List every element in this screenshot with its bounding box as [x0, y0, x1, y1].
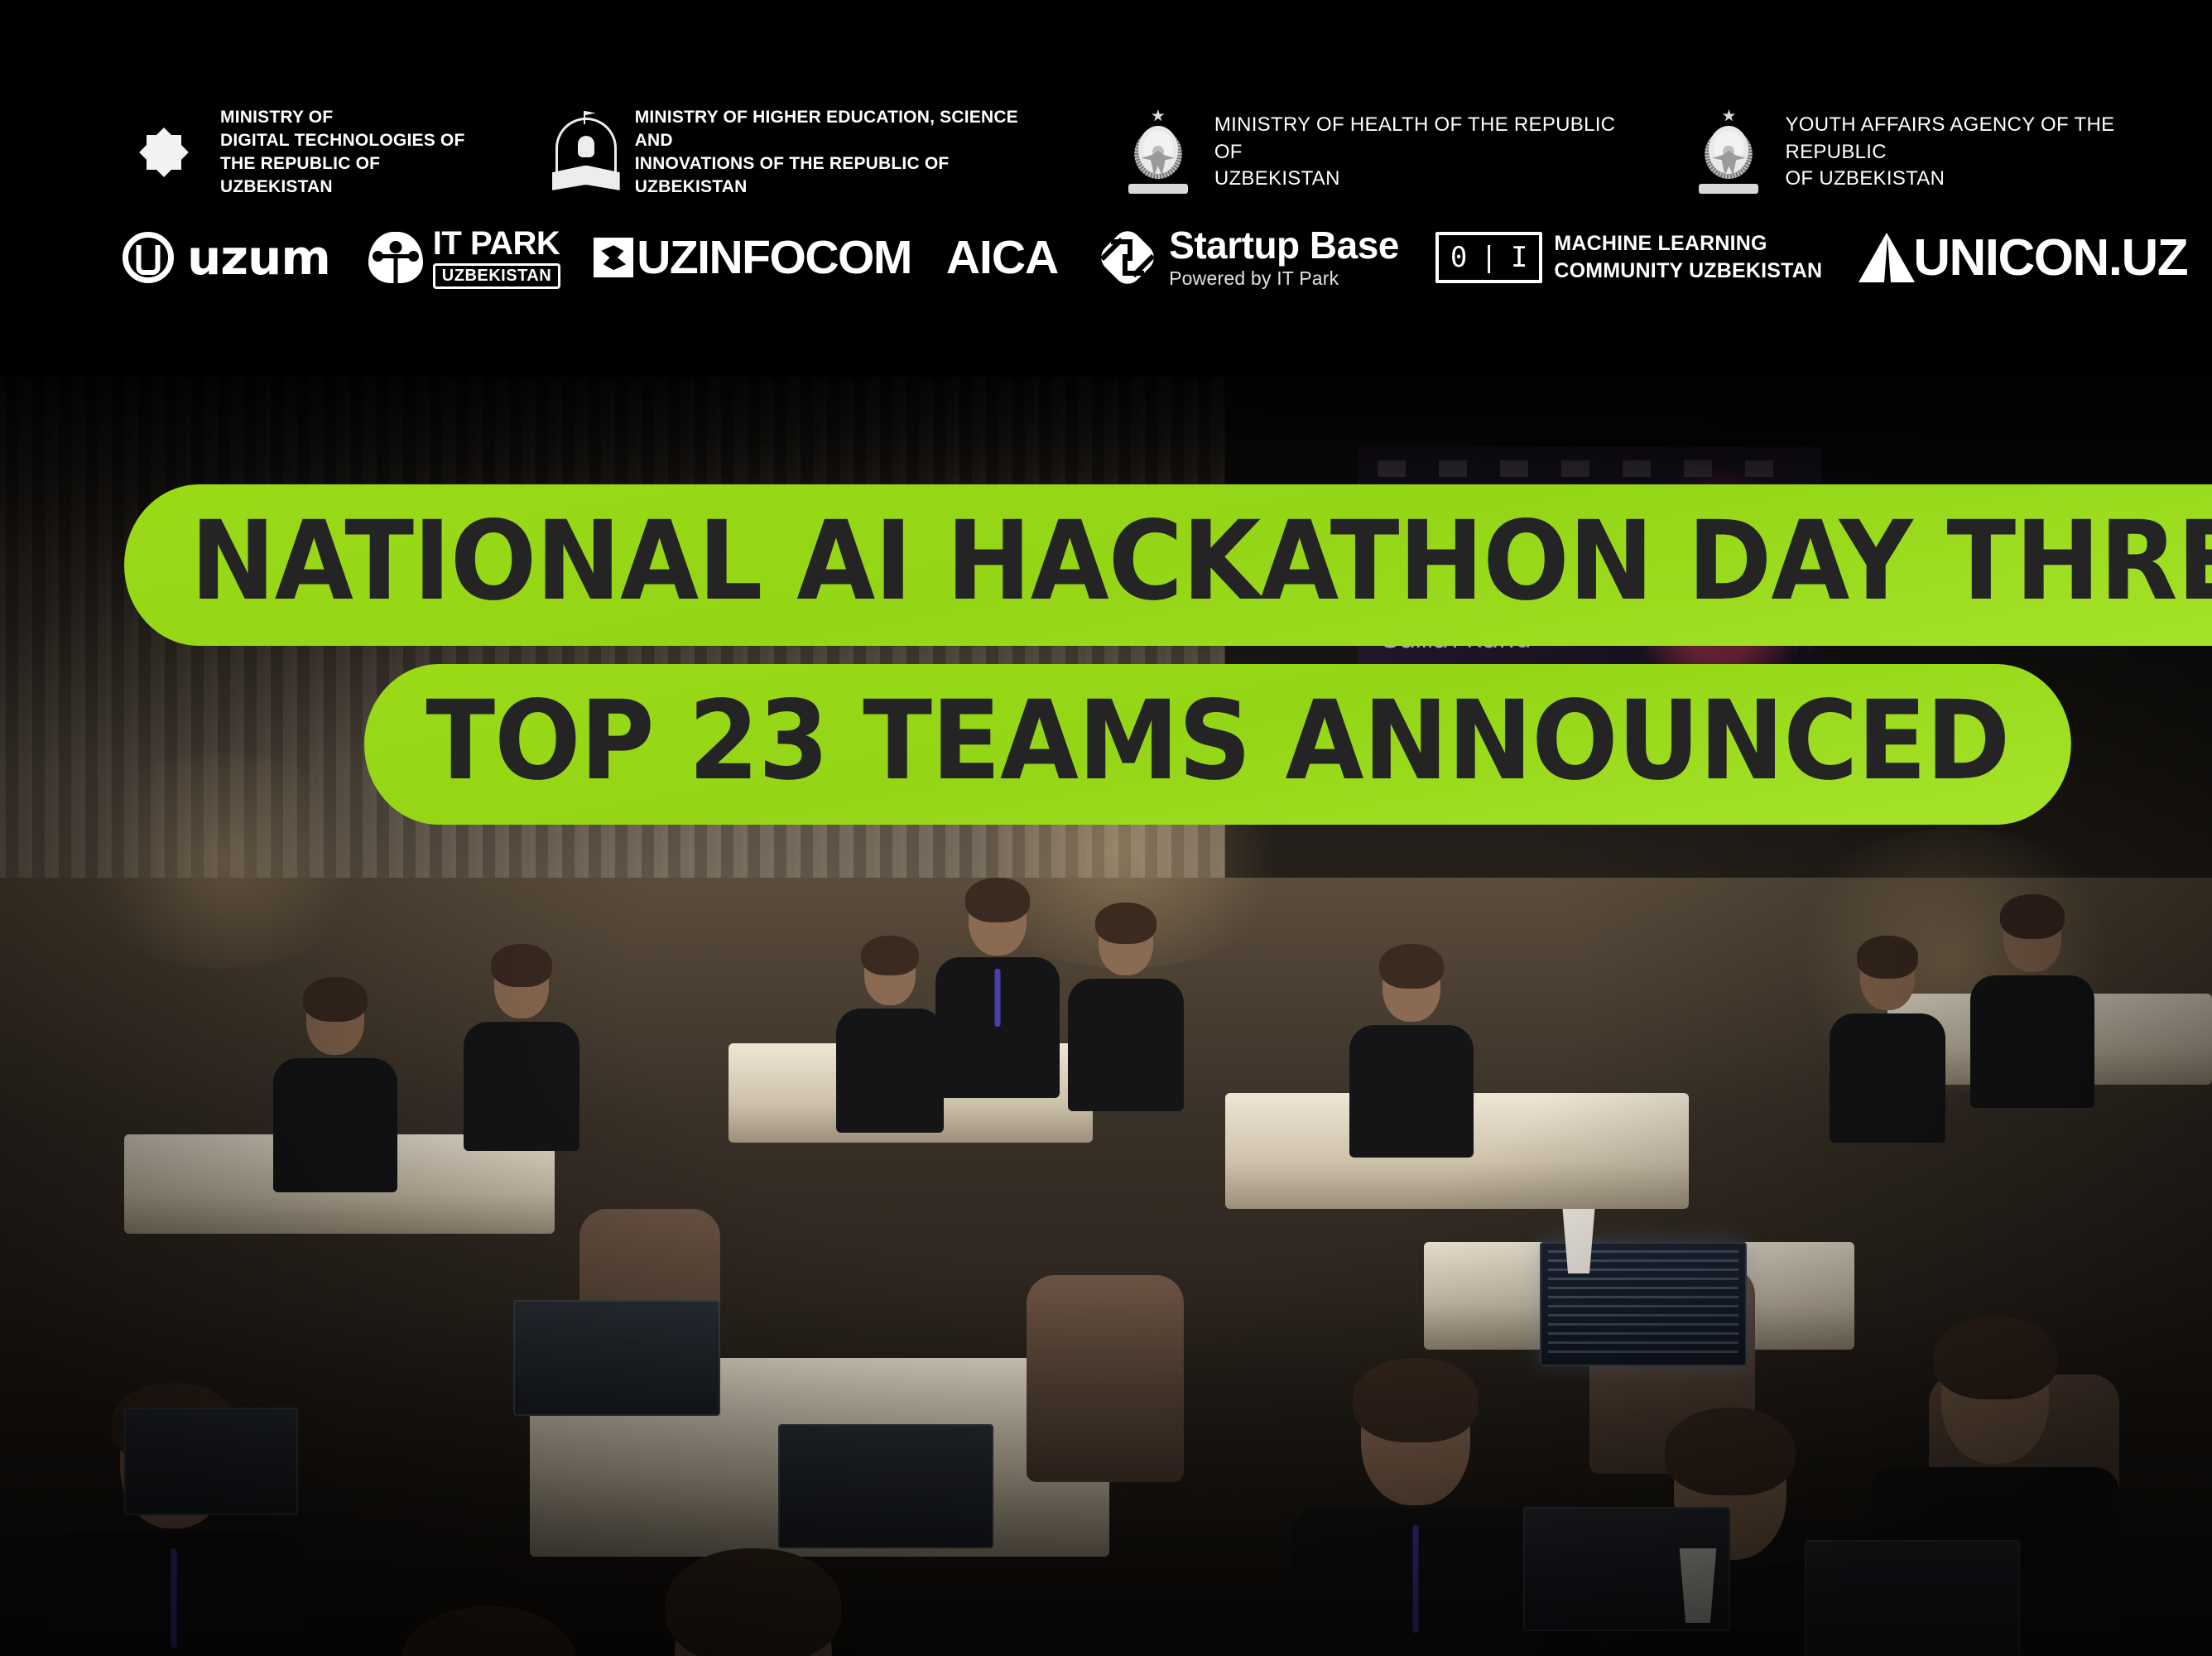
partner-ministry-digital-technologies[interactable]: MINISTRY OF DIGITAL TECHNOLOGIES OF THE … [123, 106, 491, 199]
participant [273, 977, 397, 1184]
ml-digit: | [1480, 241, 1497, 274]
participant [1349, 944, 1474, 1151]
laptop [124, 1408, 298, 1515]
event-announcement-poster: national AI hackathon: Samarkand [0, 0, 2212, 1656]
partner-ministry-health[interactable]: MINISTRY OF HEALTH OF THE REPUBLIC OF UZ… [1117, 109, 1640, 195]
partner-name: MINISTRY OF HIGHER EDUCATION, SCIENCE AN… [635, 106, 1057, 199]
sponsor-aica[interactable]: AICA [946, 230, 1058, 285]
rosette-star-icon [123, 111, 205, 194]
binary-digits-icon: 0 | I [1435, 232, 1542, 283]
headline-block: NATIONAL AI HACKATHON DAY THREE: TOP 23 … [0, 484, 2212, 825]
uzbekistan-state-emblem-icon [1687, 109, 1770, 195]
backdrop-sponsor-strip [1378, 460, 1801, 477]
participant [836, 936, 944, 1126]
participant [935, 878, 1060, 1093]
it-park-wordmark: IT PARK [433, 227, 560, 260]
sponsor-uzinfocom[interactable]: UZINFOCOM [594, 230, 911, 285]
laptop [778, 1424, 993, 1548]
startup-base-wordmark: Startup Base [1169, 225, 1399, 265]
sponsor-header: MINISTRY OF DIGITAL TECHNOLOGIES OF THE … [0, 0, 2212, 377]
headline-line-1: NATIONAL AI HACKATHON DAY THREE: [124, 484, 2212, 646]
chair [1027, 1275, 1184, 1482]
participant [579, 1548, 927, 1656]
uzbekistan-state-emblem-icon [1117, 109, 1200, 195]
partner-youth-affairs-agency[interactable]: YOUTH AFFAIRS AGENCY OF THE REPUBLIC OF … [1687, 109, 2212, 195]
uzum-wordmark: uzum [187, 229, 330, 286]
sponsor-logo-row: uzum IT PARK UZBEKISTAN UZINFOCOM AICA [123, 225, 2187, 290]
unicon-triangle-icon [1859, 233, 1915, 282]
sponsor-ml-community[interactable]: 0 | I MACHINE LEARNING COMMUNITY UZBEKIS… [1435, 230, 1822, 285]
aica-wordmark: AICA [946, 230, 1058, 285]
sponsor-unicon[interactable]: UNICON.UZ [1859, 229, 2187, 287]
government-partner-row: MINISTRY OF DIGITAL TECHNOLOGIES OF THE … [123, 106, 2212, 199]
sponsor-uzum[interactable]: uzum [123, 229, 330, 286]
laptop [1805, 1540, 2020, 1656]
uzum-power-icon [123, 232, 174, 283]
partner-name: MINISTRY OF DIGITAL TECHNOLOGIES OF THE … [220, 106, 491, 199]
it-park-person-icon [368, 232, 423, 283]
ml-digit: I [1511, 241, 1527, 274]
participant [1970, 894, 2094, 1101]
participant [464, 944, 579, 1143]
participant [1830, 936, 1945, 1134]
partner-ministry-higher-education[interactable]: MINISTRY OF HIGHER EDUCATION, SCIENCE AN… [551, 106, 1057, 199]
startup-base-tagline: Powered by IT Park [1169, 267, 1399, 290]
book-lamp-emblem-icon [551, 111, 622, 194]
headline-line-2: TOP 23 TEAMS ANNOUNCED [364, 664, 2071, 826]
startup-base-arrows-icon [1098, 228, 1157, 287]
unicon-wordmark: UNICON.UZ [1913, 229, 2187, 287]
laptop [513, 1300, 720, 1416]
uzinfocom-wordmark: UZINFOCOM [637, 230, 911, 285]
it-park-country-badge: UZBEKISTAN [433, 263, 560, 289]
ml-digit: 0 [1450, 241, 1467, 274]
participant [1291, 1358, 1540, 1656]
participant [1068, 903, 1184, 1110]
partner-name: MINISTRY OF HEALTH OF THE REPUBLIC OF UZ… [1214, 112, 1640, 192]
ml-community-wordmark: MACHINE LEARNING COMMUNITY UZBEKISTAN [1554, 230, 1822, 285]
sponsor-it-park[interactable]: IT PARK UZBEKISTAN [368, 227, 560, 289]
sponsor-startup-base[interactable]: Startup Base Powered by IT Park [1098, 225, 1399, 290]
partner-name: YOUTH AFFAIRS AGENCY OF THE REPUBLIC OF … [1785, 112, 2212, 192]
uzinfocom-pinwheel-icon [594, 238, 633, 277]
